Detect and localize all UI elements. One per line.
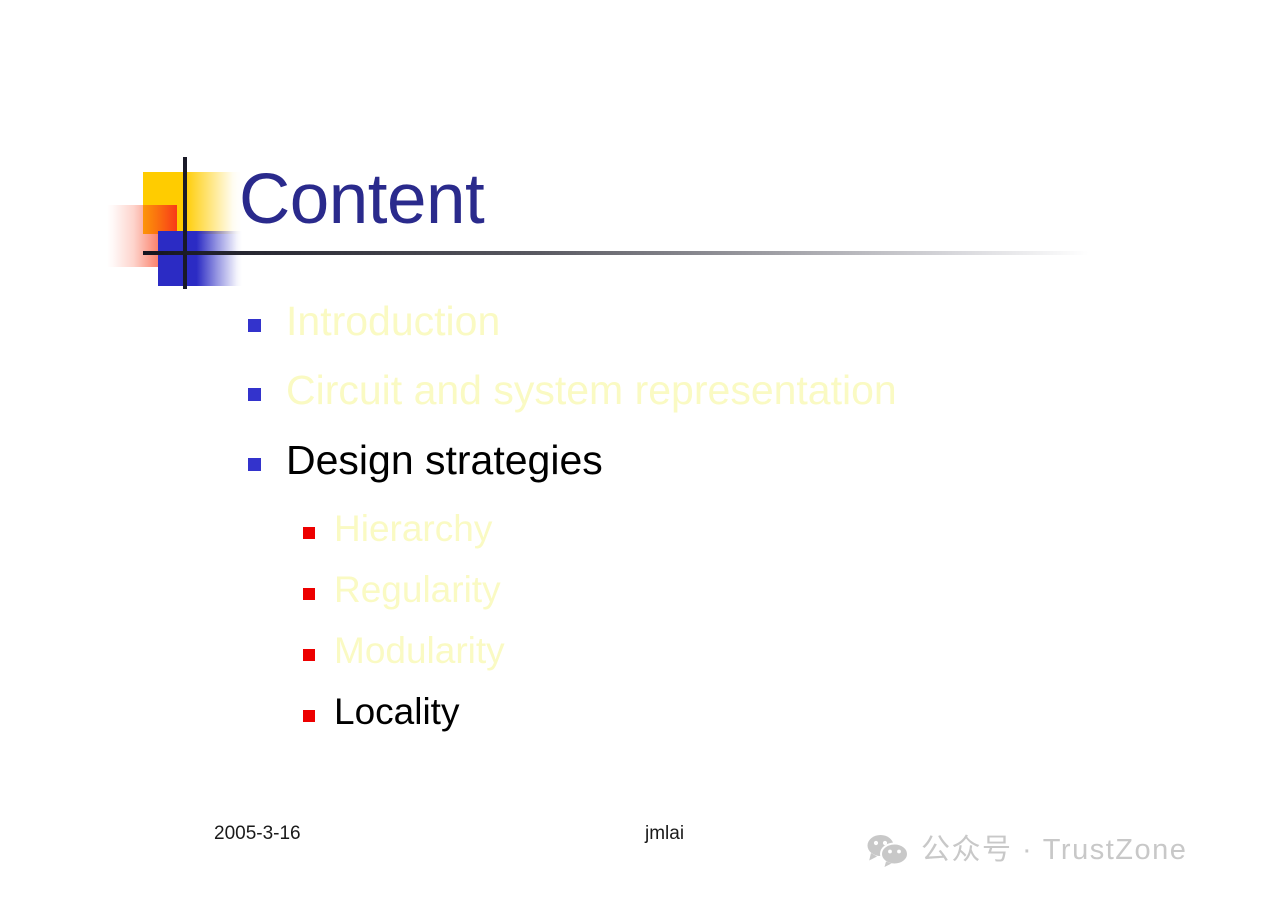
slide-title-area: Content xyxy=(0,0,1280,300)
bullet-square-icon xyxy=(248,458,261,471)
bullet-square-icon xyxy=(248,388,261,401)
list-item-label: Design strategies xyxy=(286,440,603,481)
footer-date: 2005-3-16 xyxy=(214,823,301,845)
list-item[interactable]: Design strategies xyxy=(0,435,1280,505)
bullet-square-icon xyxy=(248,319,261,332)
decoration-blue-square xyxy=(158,231,242,286)
list-item[interactable]: Modularity xyxy=(0,627,1280,688)
watermark-text: 公众号 · TrustZone xyxy=(921,836,1187,865)
list-item-label: Regularity xyxy=(334,571,501,608)
title-underline-rule xyxy=(143,251,1089,255)
list-item-label: Hierarchy xyxy=(334,510,492,547)
watermark: 公众号 · TrustZone xyxy=(866,828,1187,872)
sub-bullet-square-icon xyxy=(303,588,315,600)
list-item[interactable]: Regularity xyxy=(0,566,1280,627)
list-item[interactable]: Circuit and system representation xyxy=(0,365,1280,435)
list-item[interactable]: Introduction xyxy=(0,296,1280,366)
footer-author: jmlai xyxy=(645,823,684,845)
page-title: Content xyxy=(239,164,484,235)
wechat-icon xyxy=(866,833,910,867)
list-item-label: Introduction xyxy=(286,301,500,342)
sub-bullet-square-icon xyxy=(303,710,315,722)
list-item[interactable]: Locality xyxy=(0,688,1280,749)
decoration-vertical-rule xyxy=(183,157,187,289)
list-item[interactable]: Hierarchy xyxy=(0,505,1280,566)
list-item-label: Modularity xyxy=(334,632,505,669)
list-item-label: Locality xyxy=(334,693,459,730)
sub-bullet-square-icon xyxy=(303,527,315,539)
sub-bullet-square-icon xyxy=(303,649,315,661)
list-item-label: Circuit and system representation xyxy=(286,370,897,411)
